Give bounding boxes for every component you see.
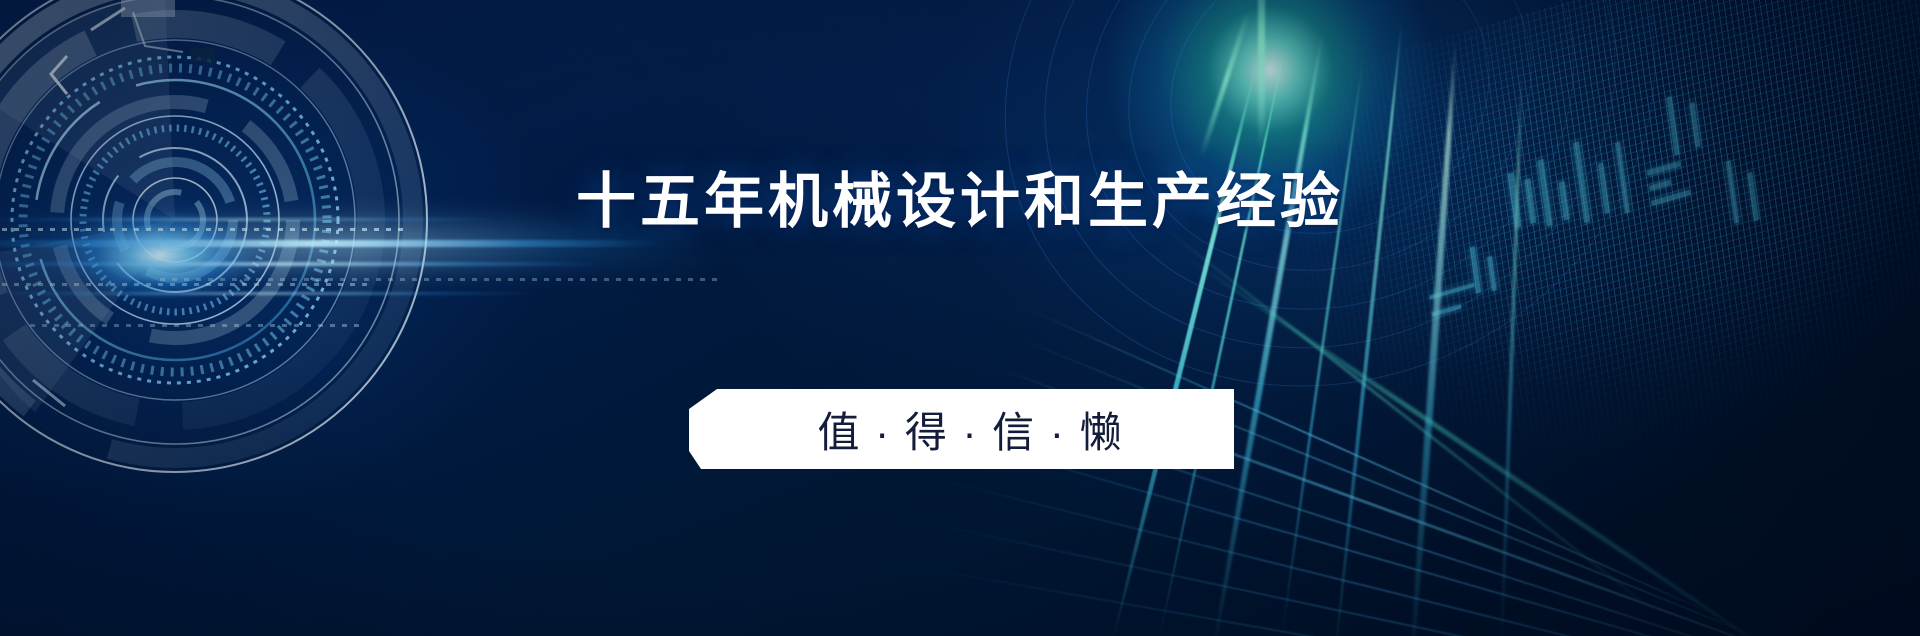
tagline-label: 值 · 得 · 信 · 懒 — [689, 389, 1234, 469]
page-title: 十五年机械设计和生产经验 — [0, 172, 1920, 232]
hero-banner: 十五年机械设计和生产经验 值 · 得 · 信 · 懒 — [0, 0, 1920, 636]
background-vignette — [0, 0, 1920, 636]
